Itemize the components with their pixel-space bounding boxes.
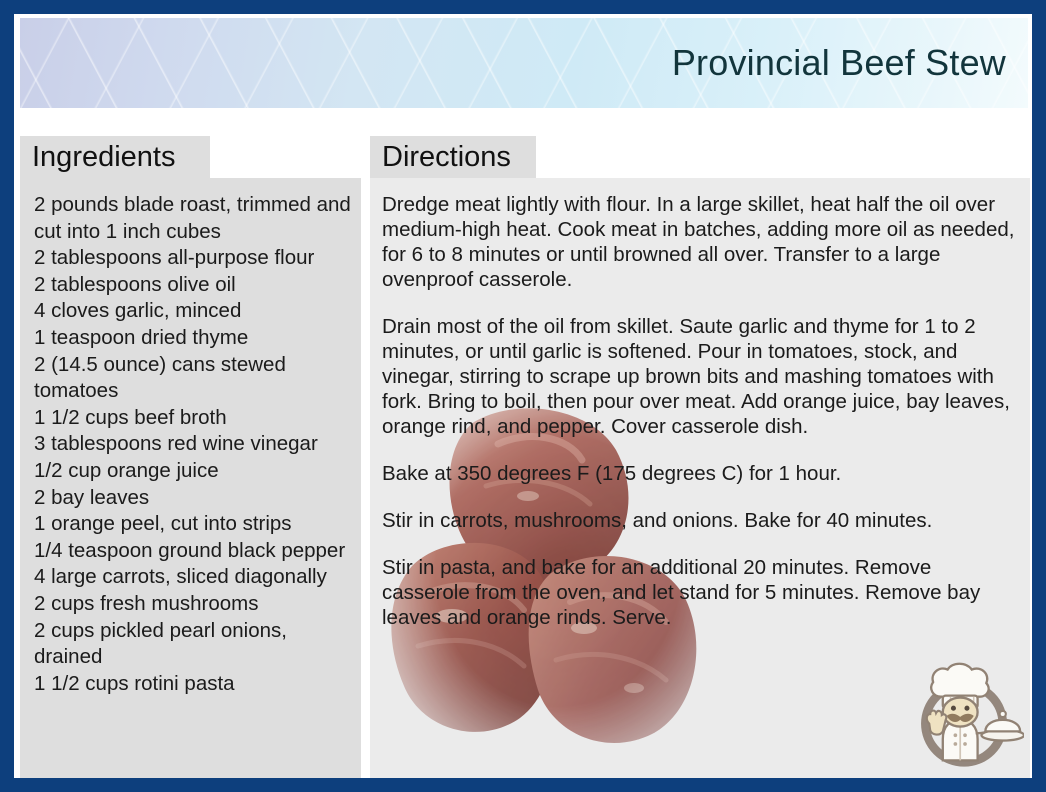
ingredients-list: 2 pounds blade roast, trimmed and cut in… [20, 178, 361, 697]
ingredient-item: 1 1/2 cups beef broth [34, 405, 351, 432]
recipe-card: Provincial Beef Stew Ingredients Directi… [0, 0, 1046, 792]
direction-step: Stir in pasta, and bake for an additiona… [382, 555, 1018, 630]
ingredient-item: 1/4 teaspoon ground black pepper [34, 538, 351, 565]
direction-step: Drain most of the oil from skillet. Saut… [382, 314, 1018, 439]
recipe-card-inner: Provincial Beef Stew Ingredients Directi… [14, 14, 1032, 778]
directions-steps: Dredge meat lightly with flour. In a lar… [370, 178, 1030, 630]
ingredient-item: 2 (14.5 ounce) cans stewed tomatoes [34, 352, 351, 405]
ingredient-item: 1 1/2 cups rotini pasta [34, 671, 351, 698]
ingredient-item: 3 tablespoons red wine vinegar [34, 431, 351, 458]
page-title: Provincial Beef Stew [672, 42, 1006, 84]
ingredient-item: 2 bay leaves [34, 485, 351, 512]
ingredient-item: 1 orange peel, cut into strips [34, 511, 351, 538]
ingredient-item: 2 cups pickled pearl onions, drained [34, 618, 351, 671]
ingredient-item: 4 cloves garlic, minced [34, 298, 351, 325]
ingredient-item: 2 pounds blade roast, trimmed and cut in… [34, 192, 351, 245]
ingredient-item: 1 teaspoon dried thyme [34, 325, 351, 352]
ingredient-item: 1/2 cup orange juice [34, 458, 351, 485]
ingredient-item: 2 cups fresh mushrooms [34, 591, 351, 618]
section-heading-directions-label: Directions [382, 143, 511, 172]
direction-step: Bake at 350 degrees F (175 degrees C) fo… [382, 461, 1018, 486]
ingredient-item: 4 large carrots, sliced diagonally [34, 564, 351, 591]
direction-step: Stir in carrots, mushrooms, and onions. … [382, 508, 1018, 533]
direction-step: Dredge meat lightly with flour. In a lar… [382, 192, 1018, 292]
section-heading-ingredients-label: Ingredients [32, 143, 176, 172]
ingredient-item: 2 tablespoons olive oil [34, 272, 351, 299]
ingredient-item: 2 tablespoons all-purpose flour [34, 245, 351, 272]
ingredients-panel: 2 pounds blade roast, trimmed and cut in… [20, 178, 361, 778]
section-heading-directions: Directions [370, 136, 536, 178]
chef-logo-icon [908, 656, 1024, 772]
section-heading-ingredients: Ingredients [20, 136, 210, 178]
header-banner: Provincial Beef Stew [20, 18, 1028, 108]
